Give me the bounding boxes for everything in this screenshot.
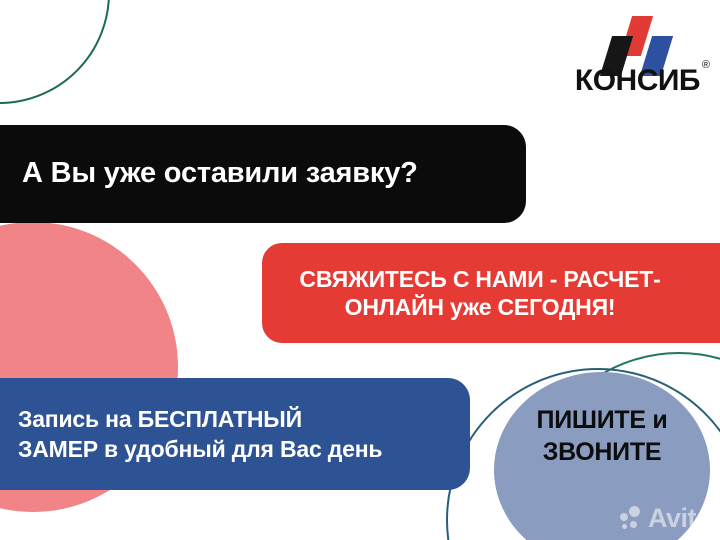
measurement-text-line2: ЗАМЕР в удобный для Вас день [18, 436, 382, 462]
cta-line2: ЗВОНИТЕ [543, 438, 661, 466]
offer-text: СВЯЖИТЕСЬ С НАМИ - РАСЧЕТ- ОНЛАЙН уже СЕ… [284, 265, 676, 321]
brand-logo: КОНСИБ ® [566, 14, 702, 102]
avito-wordmark: Avito [648, 503, 712, 534]
logo-wordmark: КОНСИБ [575, 64, 700, 97]
offer-text-today: СЕГОДНЯ! [498, 294, 616, 320]
avito-dots-icon [620, 506, 646, 532]
offer-text-line1: СВЯЖИТЕСЬ С НАМИ - РАСЧЕТ- [299, 266, 660, 292]
offer-text-online: ОНЛАЙН [345, 294, 444, 320]
cta-contact-text: ПИШИТЕ и ЗВОНИТЕ [494, 404, 710, 468]
registered-trademark-icon: ® [702, 60, 710, 71]
measurement-banner-blue: Запись на БЕСПЛАТНЫЙ ЗАМЕР в удобный для… [0, 378, 470, 490]
headline-text: А Вы уже оставили заявку? [22, 158, 418, 190]
avito-watermark: Avito [620, 503, 712, 534]
measurement-text-line1: Запись на БЕСПЛАТНЫЙ [18, 406, 302, 432]
decorative-green-ring-top-left [0, 0, 110, 104]
logo-mark-icon [566, 14, 702, 66]
promo-poster: КОНСИБ ® А Вы уже оставили заявку? СВЯЖИ… [0, 0, 720, 540]
cta-line1: ПИШИТЕ и [537, 406, 668, 434]
measurement-text: Запись на БЕСПЛАТНЫЙ ЗАМЕР в удобный для… [18, 404, 382, 465]
logo-wordmark-wrap: КОНСИБ ® [566, 66, 702, 96]
offer-text-already: уже [450, 294, 491, 320]
headline-banner-black: А Вы уже оставили заявку? [0, 125, 526, 223]
offer-banner-red: СВЯЖИТЕСЬ С НАМИ - РАСЧЕТ- ОНЛАЙН уже СЕ… [262, 243, 720, 343]
